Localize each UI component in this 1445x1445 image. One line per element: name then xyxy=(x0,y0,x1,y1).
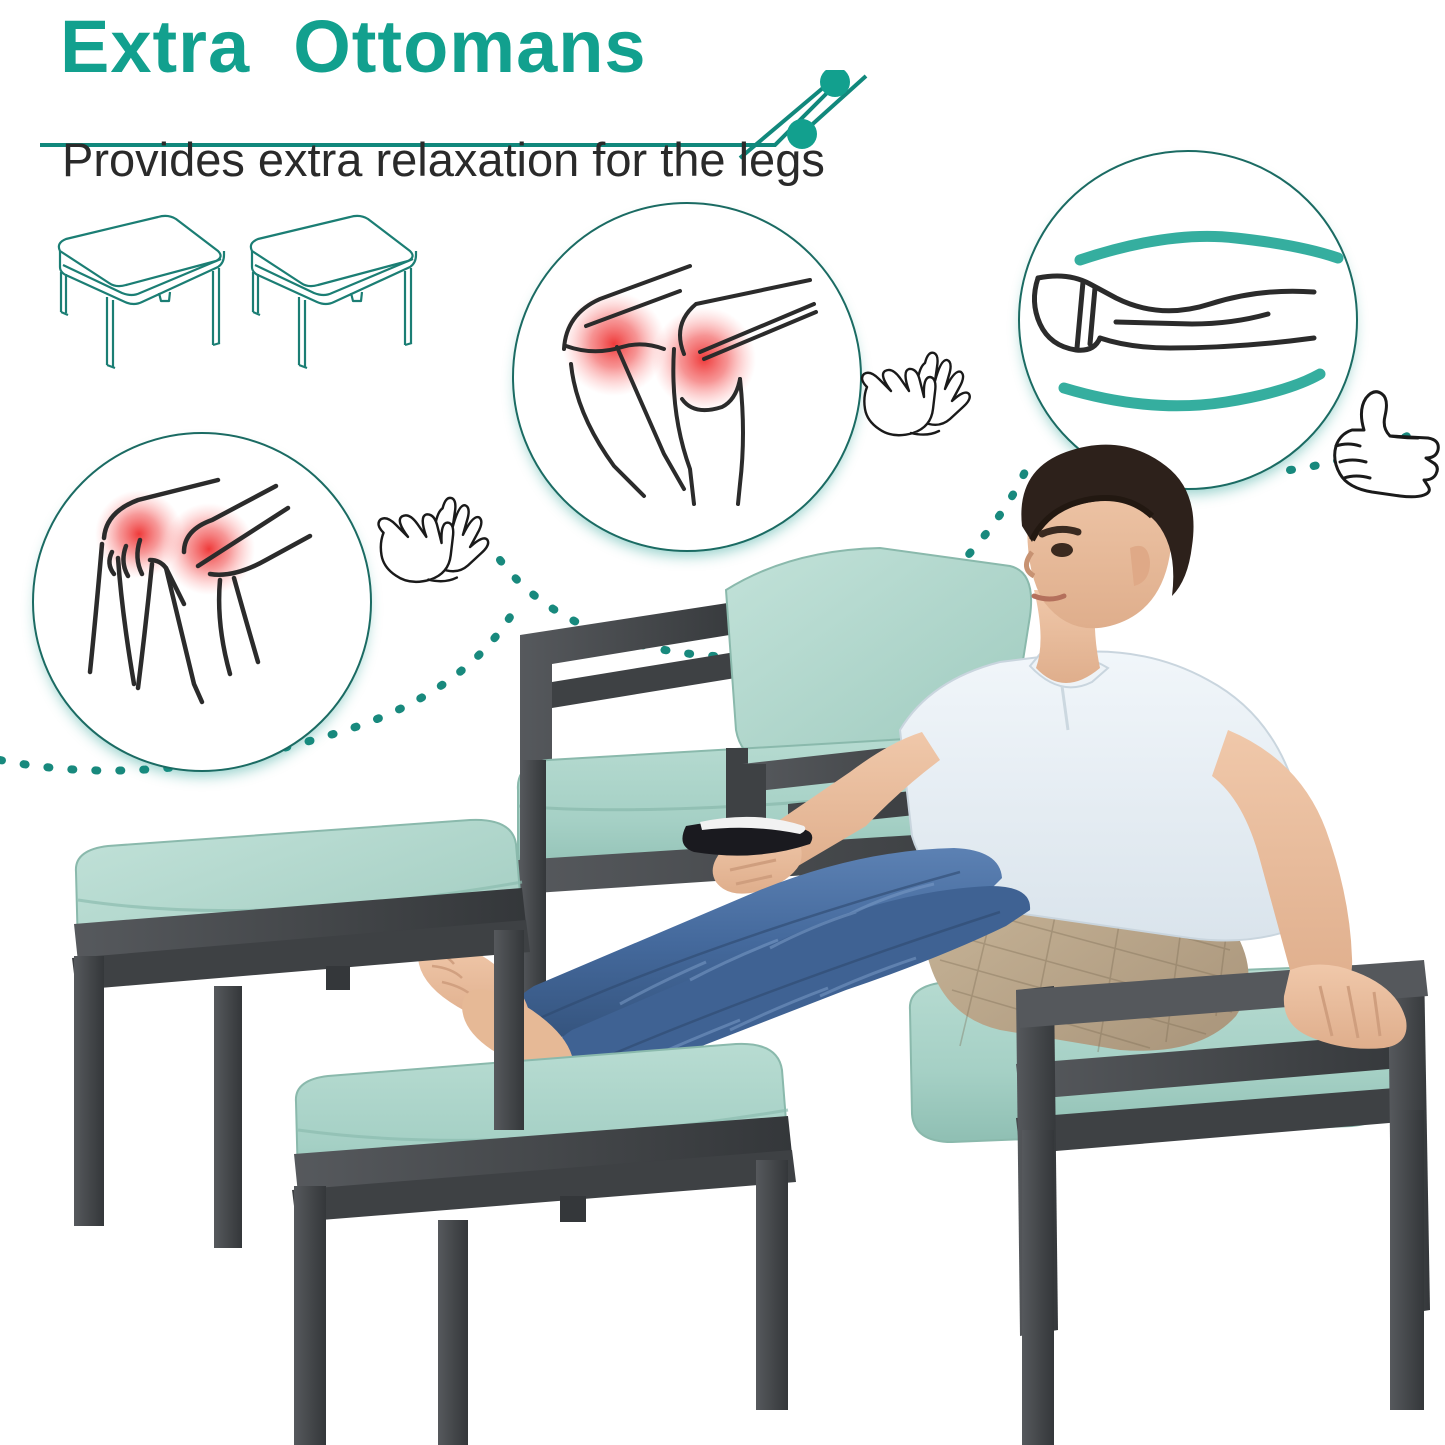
lifestyle-product-photo xyxy=(0,430,1445,1445)
page-subtitle: Provides extra relaxation for the legs xyxy=(62,132,825,187)
infographic-canvas: Extra Ottomans Provides extra relaxation… xyxy=(0,0,1445,1445)
ottoman-pair-outline-icon xyxy=(30,205,450,395)
ottoman-right xyxy=(292,1044,796,1445)
